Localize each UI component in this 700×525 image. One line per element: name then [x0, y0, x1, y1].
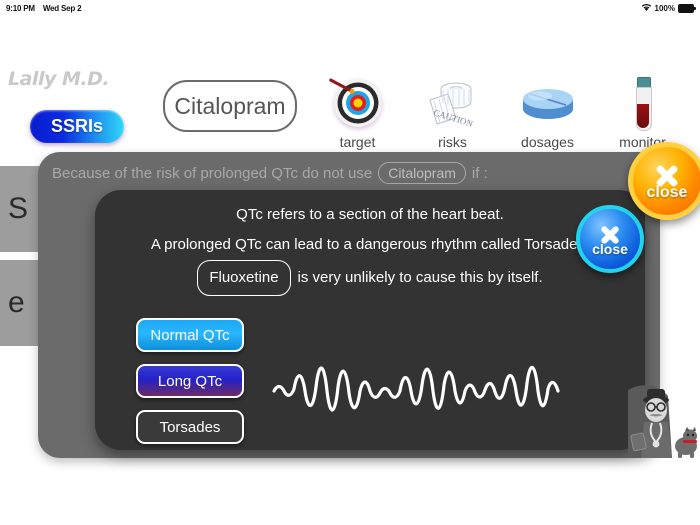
doctor-with-dog-icon — [628, 382, 700, 458]
qtc-option-group: Normal QTc Long QTc Torsades — [136, 318, 244, 456]
status-date: Wed Sep 2 — [43, 4, 82, 13]
panel-heading: Because of the risk of prolonged QTc do … — [52, 158, 612, 188]
drug-name-box[interactable]: Citalopram — [163, 80, 297, 132]
wifi-icon — [641, 3, 652, 14]
panel-text-after: if : — [472, 165, 488, 182]
panel-text-before: Because of the risk of prolonged QTc do … — [52, 165, 372, 182]
caution-tape-icon: CAUTION — [426, 75, 480, 131]
modal-line-3-rest: is very unlikely to cause this by itself… — [298, 263, 543, 293]
nav-icon-bar: target CAUTION risks — [318, 68, 698, 150]
panel-drug-pill[interactable]: Citalopram — [378, 162, 466, 184]
drug-name-label: Citalopram — [174, 93, 285, 120]
nav-item-label: risks — [438, 134, 467, 150]
blood-tube-icon — [633, 75, 653, 131]
close-button-outer[interactable]: close — [628, 142, 700, 220]
nav-item-target[interactable]: target — [318, 68, 397, 150]
close-x-icon — [599, 224, 621, 246]
option-label: Torsades — [160, 419, 221, 436]
option-torsades[interactable]: Torsades — [136, 410, 244, 444]
modal-line-3: Fluoxetine is very unlikely to cause thi… — [95, 260, 645, 296]
nav-item-dosages[interactable]: dosages — [508, 68, 587, 150]
status-bar: 9:10 PM Wed Sep 2 100% — [0, 0, 700, 16]
option-label: Normal QTc — [150, 327, 229, 344]
list-item-label: e — [8, 286, 25, 320]
status-time: 9:10 PM — [6, 4, 35, 13]
category-pill-ssris[interactable]: SSRIs — [30, 110, 124, 143]
torsades-ecg-waveform — [272, 345, 562, 425]
status-right-group: 100% — [641, 3, 694, 14]
option-label: Long QTc — [158, 373, 222, 390]
battery-percent: 100% — [655, 4, 675, 13]
close-x-icon — [654, 163, 680, 189]
modal-line-2: A prolonged QTc can lead to a dangerous … — [95, 230, 645, 260]
tablet-icon — [520, 75, 576, 131]
close-button-inner[interactable]: close — [576, 205, 644, 273]
nav-item-label: dosages — [521, 134, 574, 150]
modal-text-block: QTc refers to a section of the heart bea… — [95, 200, 645, 296]
list-item-label: S — [8, 192, 28, 226]
battery-icon — [678, 4, 694, 13]
fluoxetine-pill[interactable]: Fluoxetine — [197, 260, 290, 296]
option-long-qtc[interactable]: Long QTc — [136, 364, 244, 398]
modal-line-1: QTc refers to a section of the heart bea… — [95, 200, 645, 230]
target-icon — [332, 75, 384, 131]
category-pill-label: SSRIs — [51, 116, 103, 137]
nav-item-risks[interactable]: CAUTION risks — [413, 68, 492, 150]
nav-item-monitor[interactable]: monitor — [603, 68, 682, 150]
app-logo: Lally M.D. — [8, 68, 109, 90]
nav-item-label: target — [340, 134, 376, 150]
option-normal-qtc[interactable]: Normal QTc — [136, 318, 244, 352]
